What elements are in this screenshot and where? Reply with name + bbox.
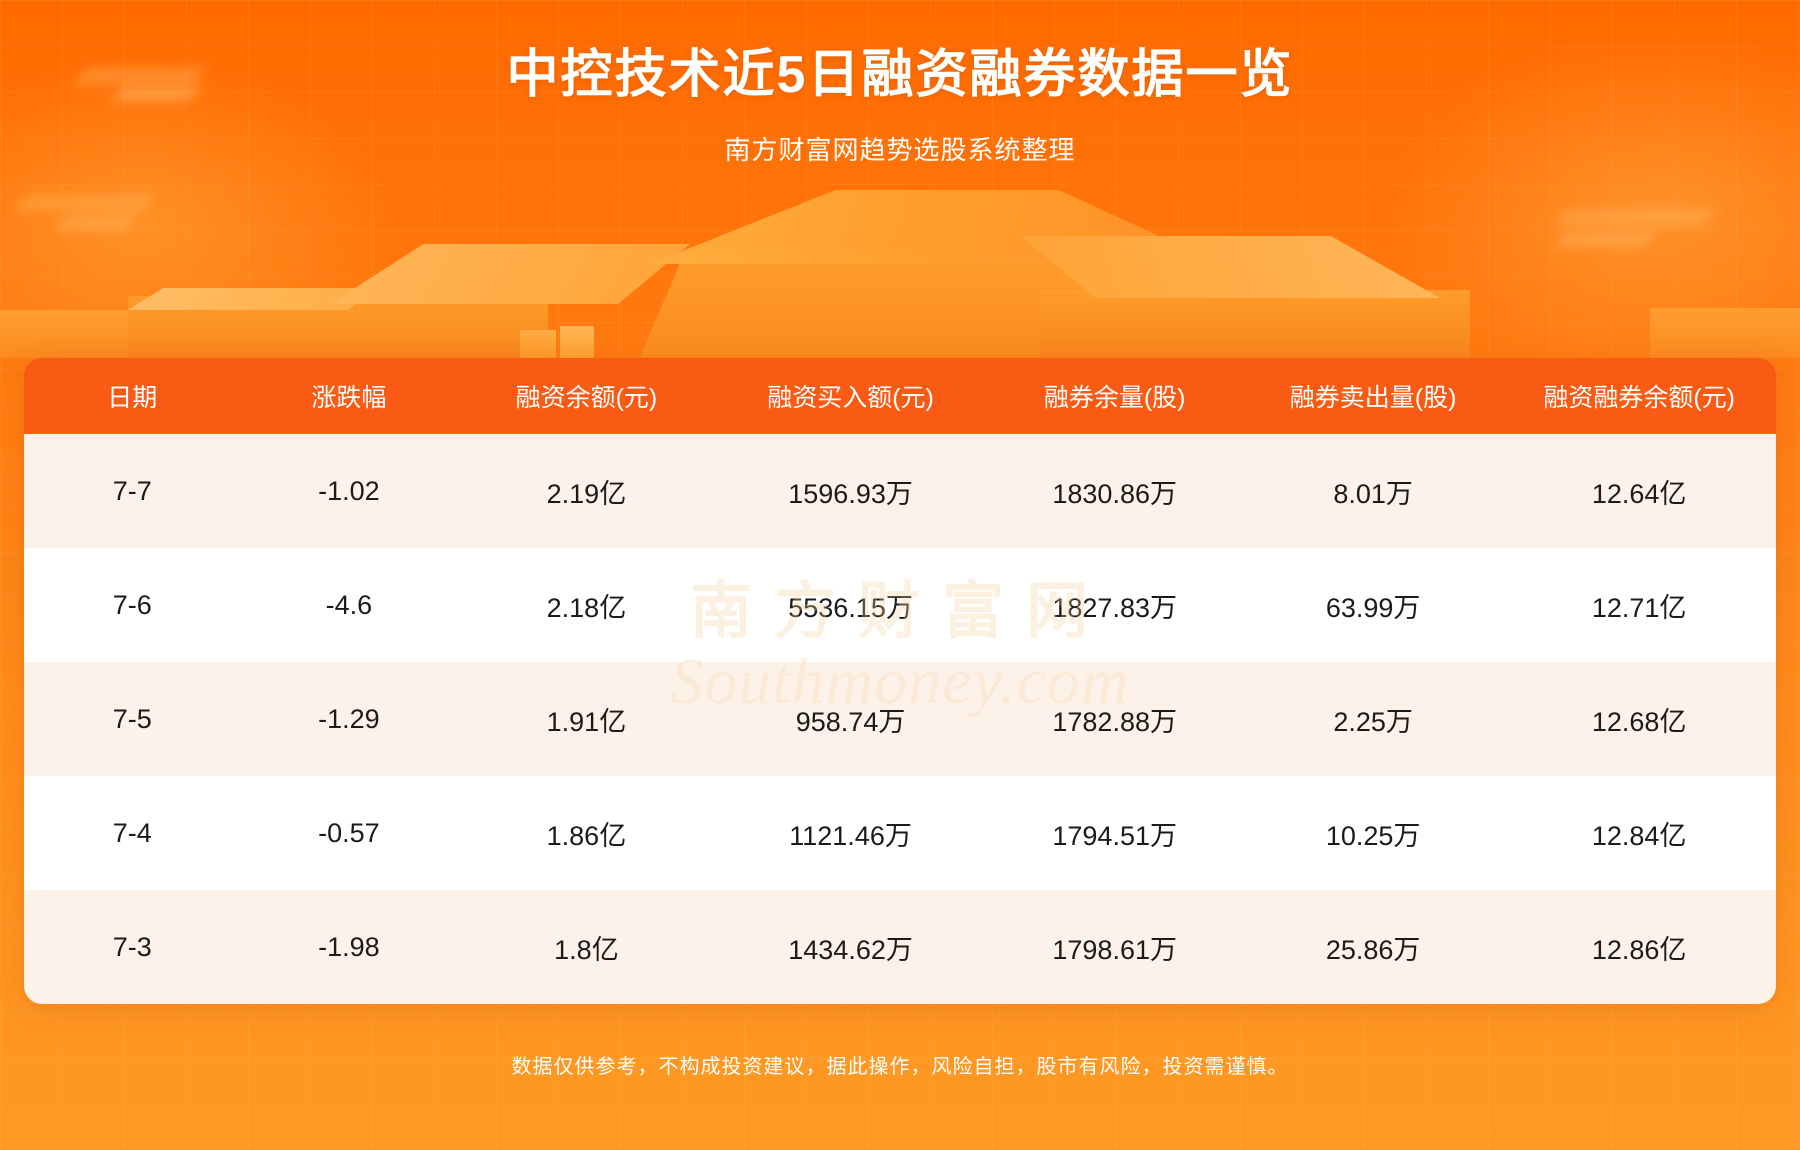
podium-block-left-face [128, 288, 378, 310]
cell-change: -1.98 [241, 890, 458, 1004]
table-row: 7-4 -0.57 1.86亿 1121.46万 1794.51万 10.25万… [24, 776, 1776, 890]
cell-change: -4.6 [241, 548, 458, 662]
column-header-margin-buy: 融资买入额(元) [716, 358, 986, 434]
column-header-margin-balance: 融资余额(元) [457, 358, 715, 434]
podium-block-left-top [330, 244, 690, 304]
cell-margin-balance: 2.19亿 [457, 434, 715, 548]
cell-margin-buy: 5536.15万 [716, 548, 986, 662]
cell-date: 7-6 [24, 548, 241, 662]
background-streak [1557, 234, 1653, 245]
data-table-card: 日期 涨跌幅 融资余额(元) 融资买入额(元) 融券余量(股) 融券卖出量(股)… [24, 358, 1776, 1004]
cell-short-volume: 1782.88万 [985, 662, 1243, 776]
background-streak [1556, 210, 1714, 225]
cell-short-volume: 1827.83万 [985, 548, 1243, 662]
cell-margin-balance: 1.91亿 [457, 662, 715, 776]
cell-total-balance: 12.86亿 [1502, 890, 1776, 1004]
cell-short-sell: 10.25万 [1244, 776, 1502, 890]
podium-block-right-body [1040, 290, 1470, 358]
podium-block-small-a [520, 330, 556, 360]
cell-short-sell: 25.86万 [1244, 890, 1502, 1004]
podium-block-far-right [1650, 308, 1800, 358]
table-row: 7-7 -1.02 2.19亿 1596.93万 1830.86万 8.01万 … [24, 434, 1776, 548]
cell-short-sell: 63.99万 [1244, 548, 1502, 662]
cell-margin-balance: 2.18亿 [457, 548, 715, 662]
cell-margin-buy: 1121.46万 [716, 776, 986, 890]
table-header-row: 日期 涨跌幅 融资余额(元) 融资买入额(元) 融券余量(股) 融券卖出量(股)… [24, 358, 1776, 434]
cell-margin-balance: 1.8亿 [457, 890, 715, 1004]
cell-short-volume: 1794.51万 [985, 776, 1243, 890]
column-header-short-volume: 融券余量(股) [985, 358, 1243, 434]
disclaimer-text: 数据仅供参考，不构成投资建议，据此操作，风险自担，股市有风险，投资需谨慎。 [512, 1050, 1289, 1079]
cell-change: -1.02 [241, 434, 458, 548]
column-header-change: 涨跌幅 [241, 358, 458, 434]
podium-block-center-body [640, 252, 1200, 357]
table-row: 7-6 -4.6 2.18亿 5536.15万 1827.83万 63.99万 … [24, 548, 1776, 662]
page-footer: 数据仅供参考，不构成投资建议，据此操作，风险自担，股市有风险，投资需谨慎。 [0, 1030, 1800, 1150]
column-header-total-balance: 融资融券余额(元) [1502, 358, 1776, 434]
margin-trading-table: 日期 涨跌幅 融资余额(元) 融资买入额(元) 融券余量(股) 融券卖出量(股)… [24, 358, 1776, 1004]
podium-block-far-left [0, 310, 140, 358]
podium-block-small-b [560, 326, 594, 360]
cell-total-balance: 12.71亿 [1502, 548, 1776, 662]
background-streak [16, 196, 153, 210]
cell-date: 7-3 [24, 890, 241, 1004]
page-title: 中控技术近5日融资融券数据一览 [0, 44, 1800, 106]
podium-block-right-top [1020, 236, 1440, 298]
table-row: 7-5 -1.29 1.91亿 958.74万 1782.88万 2.25万 1… [24, 662, 1776, 776]
cell-total-balance: 12.64亿 [1502, 434, 1776, 548]
cell-short-volume: 1830.86万 [985, 434, 1243, 548]
cell-total-balance: 12.84亿 [1502, 776, 1776, 890]
cell-date: 7-7 [24, 434, 241, 548]
cell-margin-balance: 1.86亿 [457, 776, 715, 890]
cell-short-volume: 1798.61万 [985, 890, 1243, 1004]
cell-date: 7-5 [24, 662, 241, 776]
cell-date: 7-4 [24, 776, 241, 890]
cell-change: -0.57 [241, 776, 458, 890]
cell-margin-buy: 1596.93万 [716, 434, 986, 548]
background-streak [57, 218, 132, 228]
table-header: 日期 涨跌幅 融资余额(元) 融资买入额(元) 融券余量(股) 融券卖出量(股)… [24, 358, 1776, 434]
cell-margin-buy: 1434.62万 [716, 890, 986, 1004]
column-header-date: 日期 [24, 358, 241, 434]
podium-block-center-top [600, 190, 1220, 264]
table-row: 7-3 -1.98 1.8亿 1434.62万 1798.61万 25.86万 … [24, 890, 1776, 1004]
podium-illustration [0, 190, 1800, 360]
cell-total-balance: 12.68亿 [1502, 662, 1776, 776]
page-subtitle: 南方财富网趋势选股系统整理 [0, 130, 1800, 167]
cell-short-sell: 8.01万 [1244, 434, 1502, 548]
page-header: 中控技术近5日融资融券数据一览 南方财富网趋势选股系统整理 [0, 0, 1800, 167]
podium-block-left-body [128, 296, 548, 358]
cell-margin-buy: 958.74万 [716, 662, 986, 776]
cell-short-sell: 2.25万 [1244, 662, 1502, 776]
cell-change: -1.29 [241, 662, 458, 776]
table-body: 7-7 -1.02 2.19亿 1596.93万 1830.86万 8.01万 … [24, 434, 1776, 1004]
column-header-short-sell: 融券卖出量(股) [1244, 358, 1502, 434]
